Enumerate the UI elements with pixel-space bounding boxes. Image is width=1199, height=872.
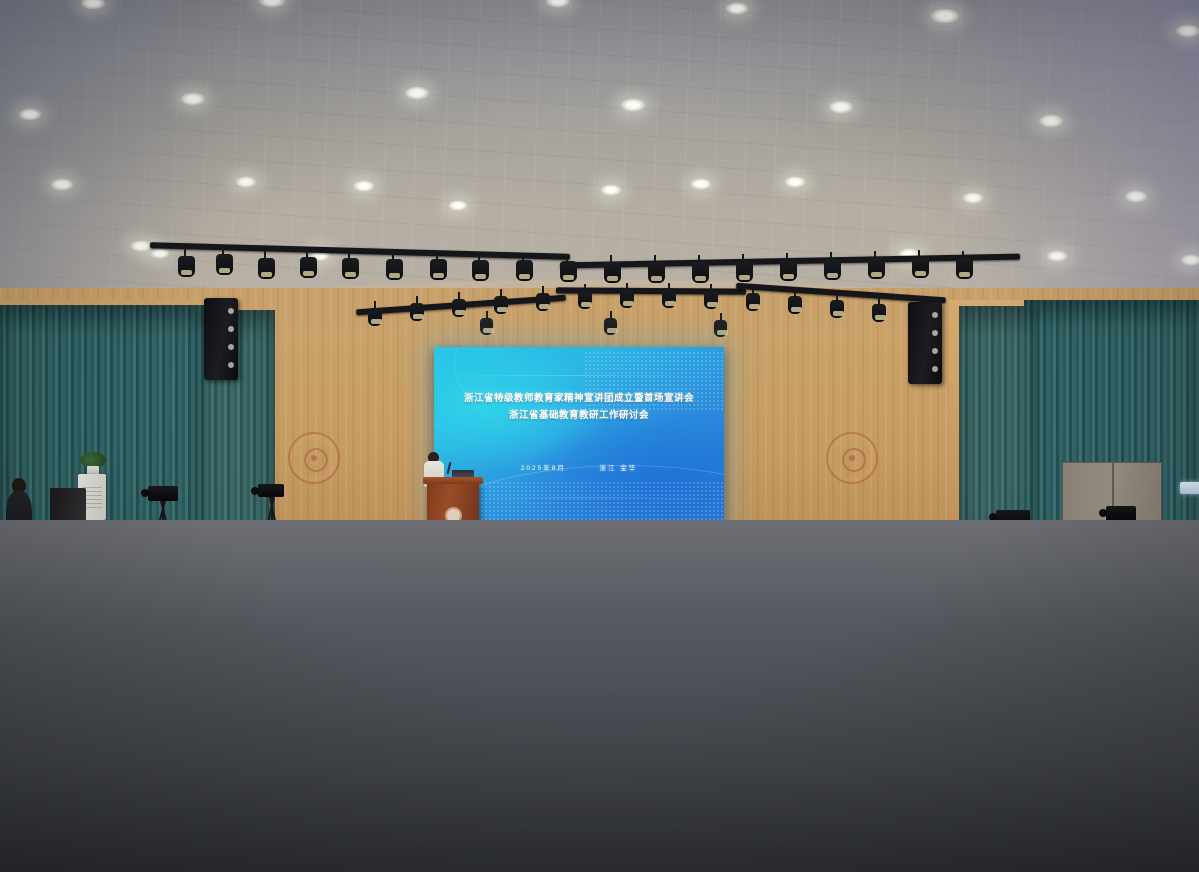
stage-spotlight [578, 291, 592, 309]
auditorium-photo: 浙江省特级教师教育家精神宣讲团成立暨首场宣讲会 浙江省基础教育教研工作研讨会 2… [0, 0, 1199, 872]
screen-title-line-1: 浙江省特级教师教育家精神宣讲团成立暨首场宣讲会 [434, 390, 724, 404]
ceiling-downlight [725, 2, 749, 15]
ceiling-downlight [962, 192, 984, 204]
ceiling-downlight [353, 180, 375, 192]
stage-spotlight [604, 262, 621, 283]
stage-spotlight [714, 320, 727, 337]
stage-spotlight [430, 259, 447, 280]
ceiling-downlight [150, 248, 170, 259]
ceiling-downlight [180, 92, 206, 106]
ceiling-downlight [404, 86, 430, 100]
stage-spotlight [472, 260, 489, 281]
stage-spotlight [368, 308, 382, 326]
stage-spotlight [620, 290, 634, 308]
ceiling-downlight [1180, 254, 1199, 266]
stage-spotlight [452, 299, 466, 317]
ceiling-downlight [1038, 114, 1064, 128]
stage-spotlight [788, 296, 802, 314]
stage-spotlight [536, 293, 550, 311]
stage-spotlight [746, 293, 760, 311]
stage-spotlight [692, 262, 709, 283]
ceiling-downlight [130, 240, 152, 252]
stage-spotlight [662, 290, 676, 308]
ceiling-downlight [620, 98, 646, 112]
stage-spotlight [178, 256, 195, 277]
ceiling-downlight [50, 178, 74, 191]
ceiling-downlight [930, 8, 960, 24]
ceiling-downlight [600, 184, 622, 196]
stage-spotlight [780, 260, 797, 281]
institution-seal-left [288, 432, 340, 484]
ceiling-downlight [448, 200, 468, 211]
institution-seal-right [826, 432, 878, 484]
stage-spotlight [824, 259, 841, 280]
audience-seating-area [0, 520, 1199, 872]
stage-spotlight [258, 258, 275, 279]
stage-spotlight [736, 261, 753, 282]
side-curtain-right-inner [959, 306, 1039, 526]
exit-sign [1180, 482, 1199, 494]
screen-accent-line [444, 375, 714, 376]
podium-top [423, 477, 483, 484]
screen-meta-row: 2025年8月 浙江 金华 [434, 462, 724, 472]
ceiling-downlight [1175, 24, 1199, 38]
ceiling-downlight [784, 176, 806, 188]
screen-title-line-2: 浙江省基础教育教研工作研讨会 [434, 407, 724, 421]
stage-equipment-case [50, 488, 86, 522]
stage-spotlight [830, 300, 844, 318]
stage-spotlight [868, 258, 885, 279]
stage-spotlight [704, 291, 718, 309]
camera-body [258, 484, 284, 497]
stage-spotlight [494, 296, 508, 314]
screen-location: 浙江 金华 [599, 462, 637, 472]
camera-body [148, 486, 178, 501]
ceiling-downlight [690, 178, 712, 190]
stage-spotlight [516, 260, 533, 281]
screen-accent-line [464, 497, 704, 498]
ceiling-downlight [1124, 190, 1148, 203]
ceiling-downlight [235, 176, 257, 188]
stage-spotlight [386, 259, 403, 280]
stage-spotlight [342, 258, 359, 279]
stage-spotlight [912, 257, 929, 278]
stage-spotlight [872, 304, 886, 322]
line-array-speaker-right [908, 302, 942, 384]
stage-spotlight [480, 318, 493, 335]
stage-spotlight [560, 261, 577, 282]
stage-spotlight [300, 257, 317, 278]
stage-spotlight [410, 303, 424, 321]
stage-spotlight [216, 254, 233, 275]
ceiling-downlight [828, 100, 854, 114]
audience-background [0, 520, 1199, 872]
stage-spotlight [648, 262, 665, 283]
stage-spotlight [604, 318, 617, 335]
line-array-speaker-left [204, 298, 238, 380]
ceiling-downlight [1046, 250, 1068, 262]
ceiling-downlight [18, 108, 42, 121]
camera-body [1106, 506, 1136, 521]
screen-date: 2025年8月 [521, 462, 566, 472]
stage-spotlight [956, 258, 973, 279]
